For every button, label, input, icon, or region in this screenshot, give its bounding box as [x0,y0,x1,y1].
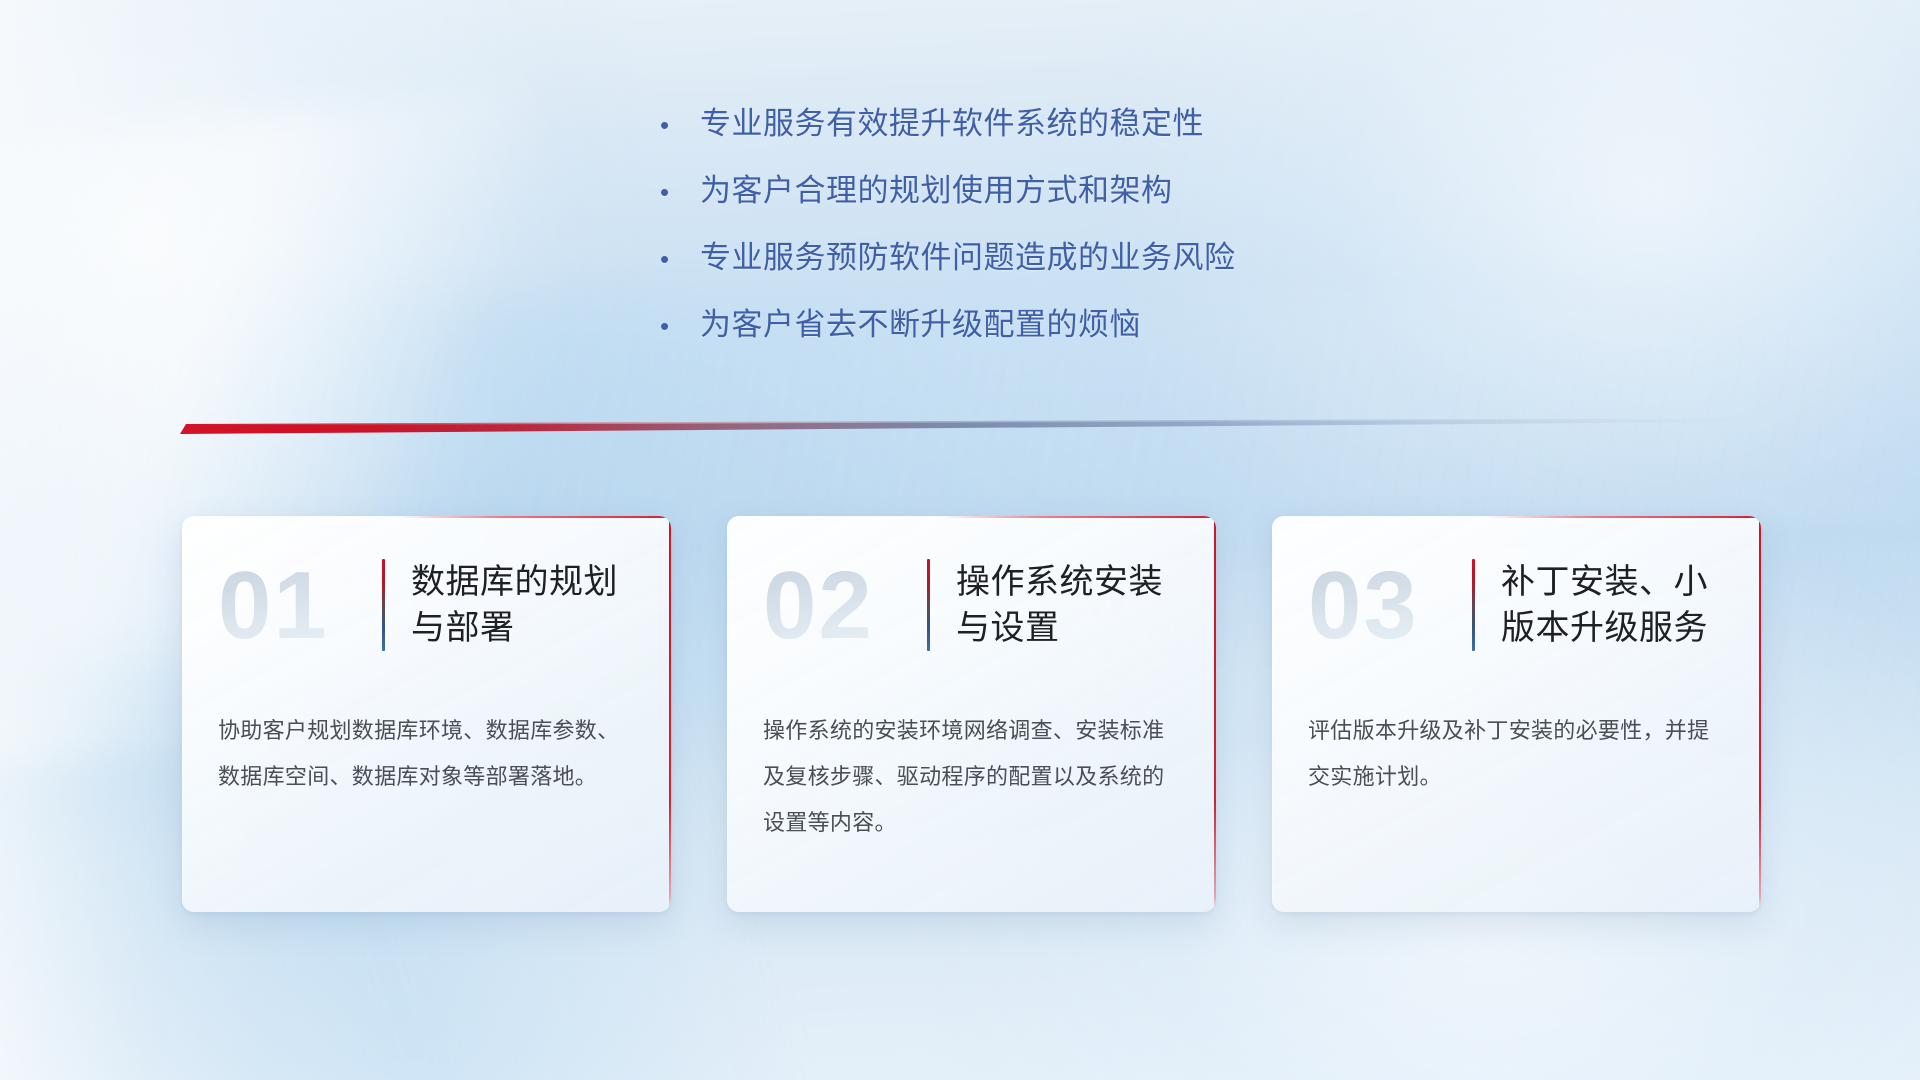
card-description: 协助客户规划数据库环境、数据库参数、数据库空间、数据库对象等部署落地。 [182,664,671,834]
card-header: 02 操作系统安装与设置 [727,516,1216,664]
list-item: • 专业服务预防软件问题造成的业务风险 [660,238,1480,279]
card-title-rule [927,559,930,651]
card-index-watermark-glyph: 03 [1306,552,1464,658]
card-header: 01 数据库的规划与部署 [182,516,671,664]
card-title-rule [1472,559,1475,651]
bullet-dot-icon: • [660,105,700,145]
svg-text:01: 01 [218,552,329,658]
list-item: • 专业服务有效提升软件系统的稳定性 [660,104,1480,145]
svg-text:02: 02 [763,552,874,658]
card-index-watermark-glyph: 02 [761,552,919,658]
card-index-watermark: 01 [216,552,374,658]
card-title: 操作系统安装与设置 [956,559,1186,651]
bullet-dot-icon: • [660,306,700,346]
list-item-label: 专业服务有效提升软件系统的稳定性 [700,104,1480,144]
list-item-label: 为客户合理的规划使用方式和架构 [700,171,1480,211]
list-item-label: 专业服务预防软件问题造成的业务风险 [700,238,1480,278]
svg-text:03: 03 [1308,552,1419,658]
bullet-dot-icon: • [660,172,700,212]
card-description: 操作系统的安装环境网络调查、安装标准及复核步骤、驱动程序的配置以及系统的设置等内… [727,664,1216,880]
card-title: 数据库的规划与部署 [411,559,641,651]
card-title-rule [382,559,385,651]
benefits-bullet-list: • 专业服务有效提升软件系统的稳定性 • 为客户合理的规划使用方式和架构 • 专… [660,104,1480,346]
section-divider [180,415,1740,441]
list-item: • 为客户省去不断升级配置的烦恼 [660,305,1480,346]
section-divider-shape [180,415,1740,441]
service-card-02[interactable]: 02 操作系统安装与设置 操作系统的安装环境网络调查、安装标准及复核步骤、驱动程… [727,516,1216,912]
card-index-watermark: 02 [761,552,919,658]
service-card-01[interactable]: 01 数据库的规划与部署 协助客户规划数据库环境、数据库参数、数据库空间、数据库… [182,516,671,912]
card-header: 03 补丁安装、小版本升级服务 [1272,516,1761,664]
list-item: • 为客户合理的规划使用方式和架构 [660,171,1480,212]
card-description: 评估版本升级及补丁安装的必要性，并提交实施计划。 [1272,664,1761,834]
card-index-watermark: 03 [1306,552,1464,658]
card-title: 补丁安装、小版本升级服务 [1501,559,1731,651]
service-card-row: 01 数据库的规划与部署 协助客户规划数据库环境、数据库参数、数据库空间、数据库… [182,516,1762,912]
card-index-watermark-glyph: 01 [216,552,374,658]
bullet-dot-icon: • [660,239,700,279]
list-item-label: 为客户省去不断升级配置的烦恼 [700,305,1480,345]
service-card-03[interactable]: 03 补丁安装、小版本升级服务 评估版本升级及补丁安装的必要性，并提交实施计划。 [1272,516,1761,912]
